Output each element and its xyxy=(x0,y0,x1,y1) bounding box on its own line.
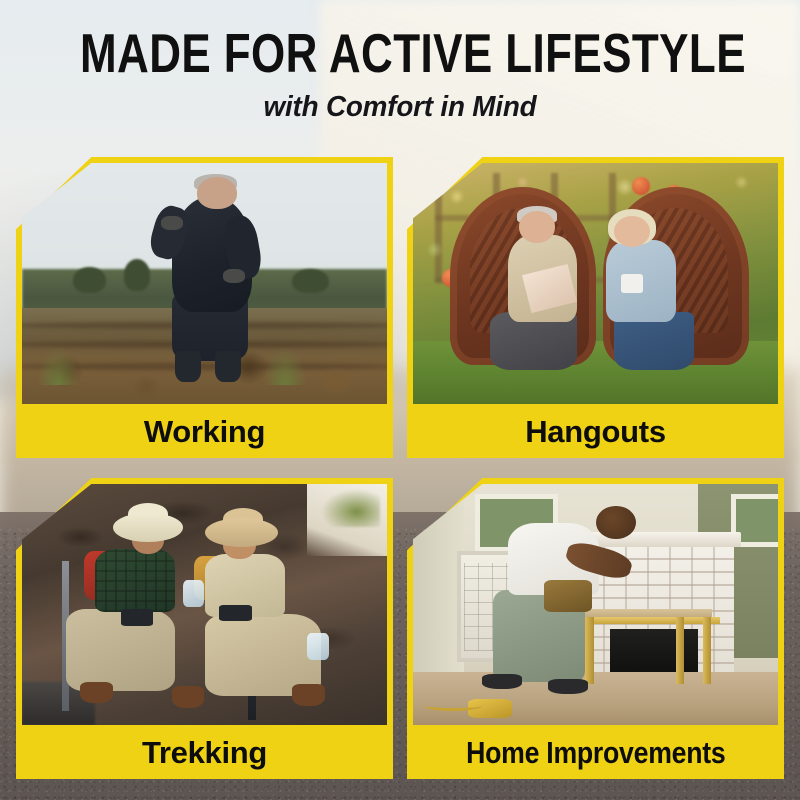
home-improvements-photo xyxy=(413,484,778,725)
lifestyle-card-grid: Working xyxy=(16,157,784,779)
promo-poster: MADE FOR ACTIVE LIFESTYLE with Comfort i… xyxy=(0,0,800,800)
poster-header: MADE FOR ACTIVE LIFESTYLE with Comfort i… xyxy=(0,0,800,122)
card-label-banner: Home Improvements xyxy=(407,725,784,779)
page-title: MADE FOR ACTIVE LIFESTYLE xyxy=(80,26,720,81)
card-label-text: Hangouts xyxy=(525,416,666,447)
card-label-text: Home Improvements xyxy=(466,737,725,768)
lifestyle-card-working[interactable]: Working xyxy=(16,157,393,458)
card-label-banner: Trekking xyxy=(16,725,393,779)
card-label-banner: Working xyxy=(16,404,393,458)
page-subtitle: with Comfort in Mind xyxy=(16,93,784,122)
trekking-photo xyxy=(22,484,387,725)
card-label-text: Trekking xyxy=(142,737,267,768)
hangouts-photo xyxy=(413,163,778,404)
working-photo xyxy=(22,163,387,404)
lifestyle-card-hangouts[interactable]: Hangouts xyxy=(407,157,784,458)
card-label-banner: Hangouts xyxy=(407,404,784,458)
card-label-text: Working xyxy=(144,416,265,447)
lifestyle-card-home-improvements[interactable]: Home Improvements xyxy=(407,478,784,779)
lifestyle-card-trekking[interactable]: Trekking xyxy=(16,478,393,779)
